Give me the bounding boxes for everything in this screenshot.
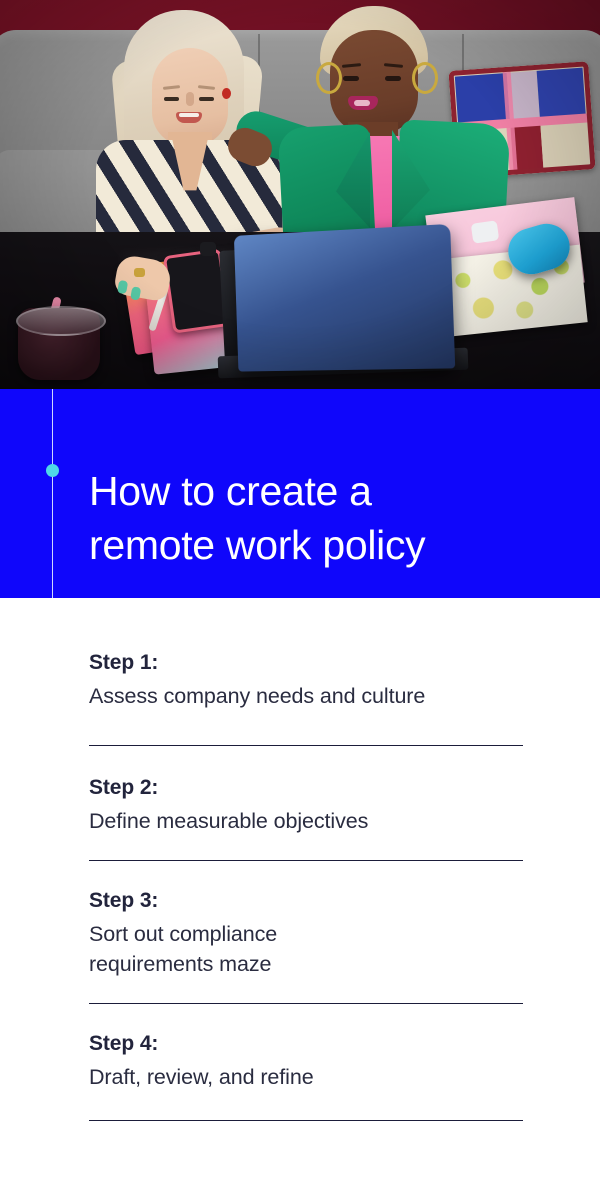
- woman-right-brow-left: [342, 63, 361, 68]
- page-title-line-2: remote work policy: [89, 518, 559, 572]
- woman-left-brow-right: [198, 85, 215, 90]
- step-divider-1: [89, 745, 523, 746]
- woman-right-brow-right: [384, 63, 403, 68]
- step-divider-4: [89, 1120, 523, 1121]
- wrist-watch: [200, 242, 216, 256]
- bullet-dot-icon: [46, 464, 59, 477]
- step-label-2: Step 2:: [89, 776, 523, 800]
- woman-right-face: [330, 30, 418, 134]
- step-divider-2: [89, 860, 523, 861]
- vertical-rule: [52, 389, 53, 598]
- woman-right-hoop-earring-right: [412, 62, 438, 94]
- step-text-4-line-1: Draft, review, and refine: [89, 1062, 523, 1092]
- white-eraser: [471, 220, 500, 243]
- woman-left-nose: [186, 92, 194, 106]
- drink-cup-lid: [16, 306, 106, 336]
- steps-list: Step 1: Assess company needs and culture…: [0, 598, 600, 1200]
- step-text-3-line-2: requirements maze: [89, 949, 523, 979]
- step-text-2-line-1: Define measurable objectives: [89, 806, 523, 836]
- step-divider-3: [89, 1003, 523, 1004]
- woman-left-brow-left: [163, 85, 180, 90]
- page-title: How to create a remote work policy: [89, 464, 559, 572]
- step-item-4: Step 4: Draft, review, and refine: [89, 1032, 523, 1092]
- woman-right-eye-right: [385, 76, 401, 81]
- woman-left-smile: [176, 112, 202, 123]
- woman-right-hoop-earring-left: [316, 62, 342, 94]
- step-label-3: Step 3:: [89, 889, 523, 913]
- hero-photo: [0, 0, 600, 389]
- infographic-page: How to create a remote work policy Step …: [0, 0, 600, 1200]
- fingernail: [117, 280, 128, 294]
- page-title-line-1: How to create a: [89, 464, 559, 518]
- laptop-lid: [234, 224, 455, 372]
- step-label-4: Step 4:: [89, 1032, 523, 1056]
- step-item-2: Step 2: Define measurable objectives: [89, 776, 523, 836]
- gold-ring: [134, 268, 145, 277]
- step-item-3: Step 3: Sort out compliance requirements…: [89, 889, 523, 979]
- step-text-3-line-1: Sort out compliance: [89, 919, 523, 949]
- woman-left-eye-right: [199, 97, 214, 101]
- woman-right-eye-left: [343, 76, 359, 81]
- step-text-1-line-1: Assess company needs and culture: [89, 681, 523, 711]
- woman-left-eye-left: [164, 97, 179, 101]
- woman-right-smile: [348, 96, 378, 110]
- woman-left-earring: [222, 88, 231, 99]
- step-item-1: Step 1: Assess company needs and culture: [89, 651, 523, 711]
- step-label-1: Step 1:: [89, 651, 523, 675]
